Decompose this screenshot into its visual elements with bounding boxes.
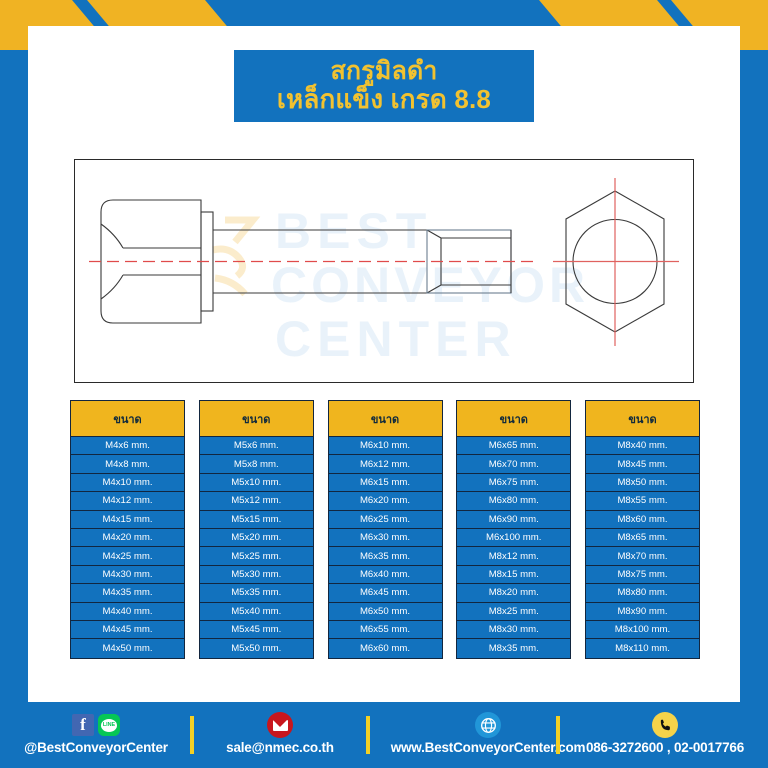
globe-icon[interactable] [475, 712, 501, 738]
size-table-column-1: ขนาด M4x6 mm. M4x8 mm. M4x10 mm. M4x12 m… [70, 400, 185, 659]
table-row[interactable]: M6x10 mm. [329, 437, 442, 455]
column-header-1: ขนาด [70, 400, 185, 437]
social-label: @BestConveyorCenter [6, 740, 186, 755]
table-row[interactable]: M4x35 mm. [71, 584, 184, 602]
table-row[interactable]: M4x45 mm. [71, 621, 184, 639]
watermark: BEST CONVEYOR CENTER [271, 203, 589, 367]
table-row[interactable]: M8x55 mm. [586, 492, 699, 510]
table-row[interactable]: M6x12 mm. [329, 455, 442, 473]
table-row[interactable]: M6x100 mm. [457, 529, 570, 547]
table-row[interactable]: M8x60 mm. [586, 511, 699, 529]
globe-glyph [480, 717, 497, 734]
title-line-2: เหล็กแข็ง เกรด 8.8 [277, 85, 491, 114]
footer-phone[interactable]: 086-3272600 , 02-0017766 [566, 712, 764, 755]
table-row[interactable]: M8x12 mm. [457, 547, 570, 565]
table-row[interactable]: M4x50 mm. [71, 639, 184, 657]
table-row[interactable]: M5x10 mm. [200, 474, 313, 492]
table-row[interactable]: M8x30 mm. [457, 621, 570, 639]
table-row[interactable]: M6x45 mm. [329, 584, 442, 602]
table-row[interactable]: M4x30 mm. [71, 566, 184, 584]
table-row[interactable]: M6x25 mm. [329, 511, 442, 529]
table-row[interactable]: M6x80 mm. [457, 492, 570, 510]
table-row[interactable]: M5x35 mm. [200, 584, 313, 602]
table-row[interactable]: M5x8 mm. [200, 455, 313, 473]
table-row[interactable]: M8x20 mm. [457, 584, 570, 602]
table-row[interactable]: M8x110 mm. [586, 639, 699, 657]
svg-text:CONVEYOR: CONVEYOR [271, 257, 589, 313]
size-table-column-3: ขนาด M6x10 mm. M6x12 mm. M6x15 mm. M6x20… [328, 400, 443, 659]
footer-divider-3 [556, 716, 560, 754]
envelope-icon[interactable] [267, 712, 293, 738]
phone-icon-wrap [566, 712, 764, 738]
table-row[interactable]: M5x20 mm. [200, 529, 313, 547]
email-label: sale@nmec.co.th [200, 740, 360, 755]
table-row[interactable]: M4x25 mm. [71, 547, 184, 565]
size-table-column-2: ขนาด M5x6 mm. M5x8 mm. M5x10 mm. M5x12 m… [199, 400, 314, 659]
table-row[interactable]: M8x35 mm. [457, 639, 570, 657]
table-row[interactable]: M4x6 mm. [71, 437, 184, 455]
bolt-drawing-svg: BEST CONVEYOR CENTER [75, 160, 693, 382]
table-row[interactable]: M6x60 mm. [329, 639, 442, 657]
table-row[interactable]: M8x90 mm. [586, 603, 699, 621]
column-header-2: ขนาด [199, 400, 314, 437]
technical-drawing-panel: BEST CONVEYOR CENTER [74, 159, 694, 383]
table-row[interactable]: M6x55 mm. [329, 621, 442, 639]
column-body-2: M5x6 mm. M5x8 mm. M5x10 mm. M5x12 mm. M5… [199, 437, 314, 659]
column-body-4: M6x65 mm. M6x70 mm. M6x75 mm. M6x80 mm. … [456, 437, 571, 659]
social-icons: f LINE [6, 712, 186, 738]
table-row[interactable]: M4x8 mm. [71, 455, 184, 473]
column-body-1: M4x6 mm. M4x8 mm. M4x10 mm. M4x12 mm. M4… [70, 437, 185, 659]
size-tables: ขนาด M4x6 mm. M4x8 mm. M4x10 mm. M4x12 m… [70, 400, 700, 659]
column-header-4: ขนาด [456, 400, 571, 437]
line-icon[interactable]: LINE [98, 714, 120, 736]
table-row[interactable]: M6x15 mm. [329, 474, 442, 492]
website-label: www.BestConveyorCenter.com [378, 740, 598, 755]
table-row[interactable]: M8x25 mm. [457, 603, 570, 621]
table-row[interactable]: M5x45 mm. [200, 621, 313, 639]
table-row[interactable]: M8x40 mm. [586, 437, 699, 455]
table-row[interactable]: M8x80 mm. [586, 584, 699, 602]
table-row[interactable]: M4x20 mm. [71, 529, 184, 547]
column-body-3: M6x10 mm. M6x12 mm. M6x15 mm. M6x20 mm. … [328, 437, 443, 659]
table-row[interactable]: M5x30 mm. [200, 566, 313, 584]
table-row[interactable]: M6x75 mm. [457, 474, 570, 492]
footer-social[interactable]: f LINE @BestConveyorCenter [6, 712, 186, 755]
table-row[interactable]: M8x100 mm. [586, 621, 699, 639]
table-row[interactable]: M4x40 mm. [71, 603, 184, 621]
table-row[interactable]: M4x10 mm. [71, 474, 184, 492]
footer-contact-bar: f LINE @BestConveyorCenter sale@nmec.co.… [0, 702, 768, 768]
telephone-icon[interactable] [652, 712, 678, 738]
facebook-icon[interactable]: f [72, 714, 94, 736]
table-row[interactable]: M6x90 mm. [457, 511, 570, 529]
svg-text:CENTER: CENTER [275, 311, 517, 367]
table-row[interactable]: M5x50 mm. [200, 639, 313, 657]
svg-text:BEST: BEST [275, 203, 432, 259]
table-row[interactable]: M8x45 mm. [586, 455, 699, 473]
table-row[interactable]: M8x65 mm. [586, 529, 699, 547]
footer-email[interactable]: sale@nmec.co.th [200, 712, 360, 755]
content-page: สกรูมิลดำ เหล็กแข็ง เกรด 8.8 BEST CONVEY… [28, 26, 740, 702]
column-body-5: M8x40 mm. M8x45 mm. M8x50 mm. M8x55 mm. … [585, 437, 700, 659]
size-table-column-4: ขนาด M6x65 mm. M6x70 mm. M6x75 mm. M6x80… [456, 400, 571, 659]
handset-glyph [658, 718, 673, 733]
size-table-column-5: ขนาด M8x40 mm. M8x45 mm. M8x50 mm. M8x55… [585, 400, 700, 659]
footer-website[interactable]: www.BestConveyorCenter.com [378, 712, 598, 755]
footer-divider-1 [190, 716, 194, 754]
table-row[interactable]: M5x15 mm. [200, 511, 313, 529]
table-row[interactable]: M6x40 mm. [329, 566, 442, 584]
table-row[interactable]: M4x12 mm. [71, 492, 184, 510]
table-row[interactable]: M8x50 mm. [586, 474, 699, 492]
table-row[interactable]: M6x70 mm. [457, 455, 570, 473]
table-row[interactable]: M5x6 mm. [200, 437, 313, 455]
table-row[interactable]: M8x75 mm. [586, 566, 699, 584]
table-row[interactable]: M8x15 mm. [457, 566, 570, 584]
table-row[interactable]: M8x70 mm. [586, 547, 699, 565]
table-row[interactable]: M6x35 mm. [329, 547, 442, 565]
phone-label: 086-3272600 , 02-0017766 [566, 740, 764, 755]
logo-watermark [213, 220, 253, 294]
table-row[interactable]: M6x30 mm. [329, 529, 442, 547]
table-row[interactable]: M5x12 mm. [200, 492, 313, 510]
title-line-1: สกรูมิลดำ [330, 57, 437, 85]
page-title: สกรูมิลดำ เหล็กแข็ง เกรด 8.8 [234, 50, 534, 122]
table-row[interactable]: M6x50 mm. [329, 603, 442, 621]
column-header-3: ขนาด [328, 400, 443, 437]
website-icon-wrap [378, 712, 598, 738]
table-row[interactable]: M6x65 mm. [457, 437, 570, 455]
table-row[interactable]: M5x40 mm. [200, 603, 313, 621]
table-row[interactable]: M5x25 mm. [200, 547, 313, 565]
table-row[interactable]: M4x15 mm. [71, 511, 184, 529]
footer-divider-2 [366, 716, 370, 754]
email-icon-wrap [200, 712, 360, 738]
table-row[interactable]: M6x20 mm. [329, 492, 442, 510]
column-header-5: ขนาด [585, 400, 700, 437]
